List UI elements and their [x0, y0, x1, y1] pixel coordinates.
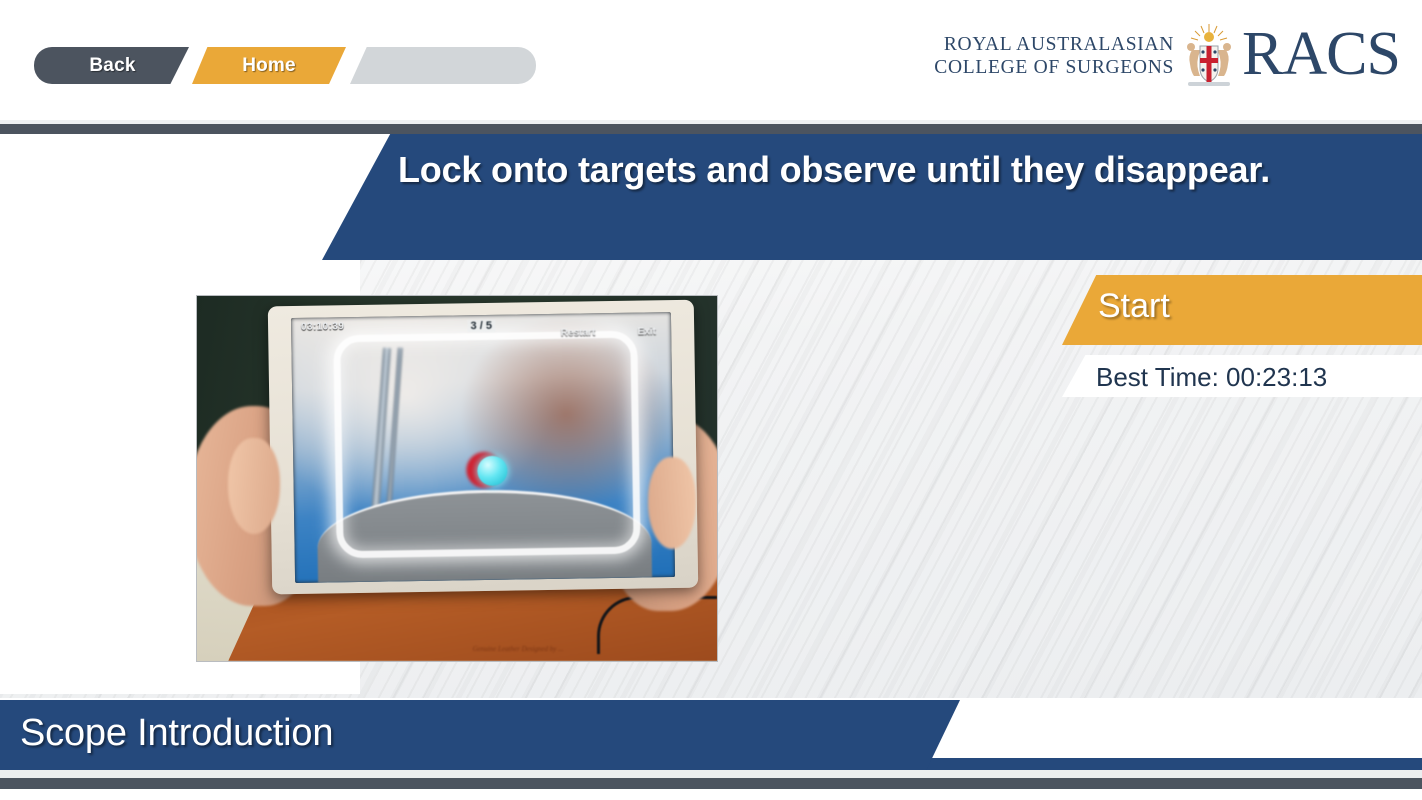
- start-button-label: Start: [1098, 287, 1170, 326]
- racs-logo-line2: COLLEGE OF SURGEONS: [934, 56, 1174, 79]
- breadcrumb-current-segment[interactable]: [350, 47, 536, 84]
- footer-base: [0, 789, 1422, 800]
- slide-root: Back Home ROYAL AUSTRALASIAN COLLEGE OF …: [0, 0, 1422, 800]
- video-ipad-device: 03:10:39 3 / 5 Restart Exit: [268, 300, 699, 595]
- video-desk-engraving: Genuine Leather Designed by ...: [473, 645, 564, 653]
- racs-logo: ROYAL AUSTRALASIAN COLLEGE OF SURGEONS: [934, 20, 1400, 92]
- video-right-thumb: [648, 457, 696, 549]
- best-time-label: Best Time: 00:23:13: [1096, 362, 1327, 393]
- header-divider-bar: [0, 124, 1422, 134]
- racs-coat-of-arms-icon: [1180, 20, 1238, 92]
- racs-logo-wordmark: ROYAL AUSTRALASIAN COLLEGE OF SURGEONS: [934, 33, 1174, 79]
- ar-scope-bezel: [333, 331, 640, 559]
- footer-divider-bar: [0, 778, 1422, 789]
- video-left-thumb: [228, 438, 280, 534]
- top-header: Back Home ROYAL AUSTRALASIAN COLLEGE OF …: [0, 0, 1422, 125]
- instruction-text: Lock onto targets and observe until they…: [398, 146, 1278, 193]
- back-button-label: Back: [89, 55, 135, 77]
- breadcrumb: Back Home: [34, 47, 502, 84]
- racs-logo-line1: ROYAL AUSTRALASIAN: [934, 33, 1174, 56]
- footer-gap: [0, 770, 1422, 778]
- ipad-screen: 03:10:39 3 / 5 Restart Exit: [291, 312, 675, 583]
- back-button[interactable]: Back: [34, 47, 189, 84]
- demo-video[interactable]: Genuine Leather Designed by ... 03:10:39…: [196, 295, 718, 662]
- section-title: Scope Introduction: [20, 712, 333, 755]
- home-button[interactable]: Home: [192, 47, 346, 84]
- home-button-label: Home: [242, 55, 296, 77]
- racs-logo-acronym: RACS: [1242, 23, 1400, 85]
